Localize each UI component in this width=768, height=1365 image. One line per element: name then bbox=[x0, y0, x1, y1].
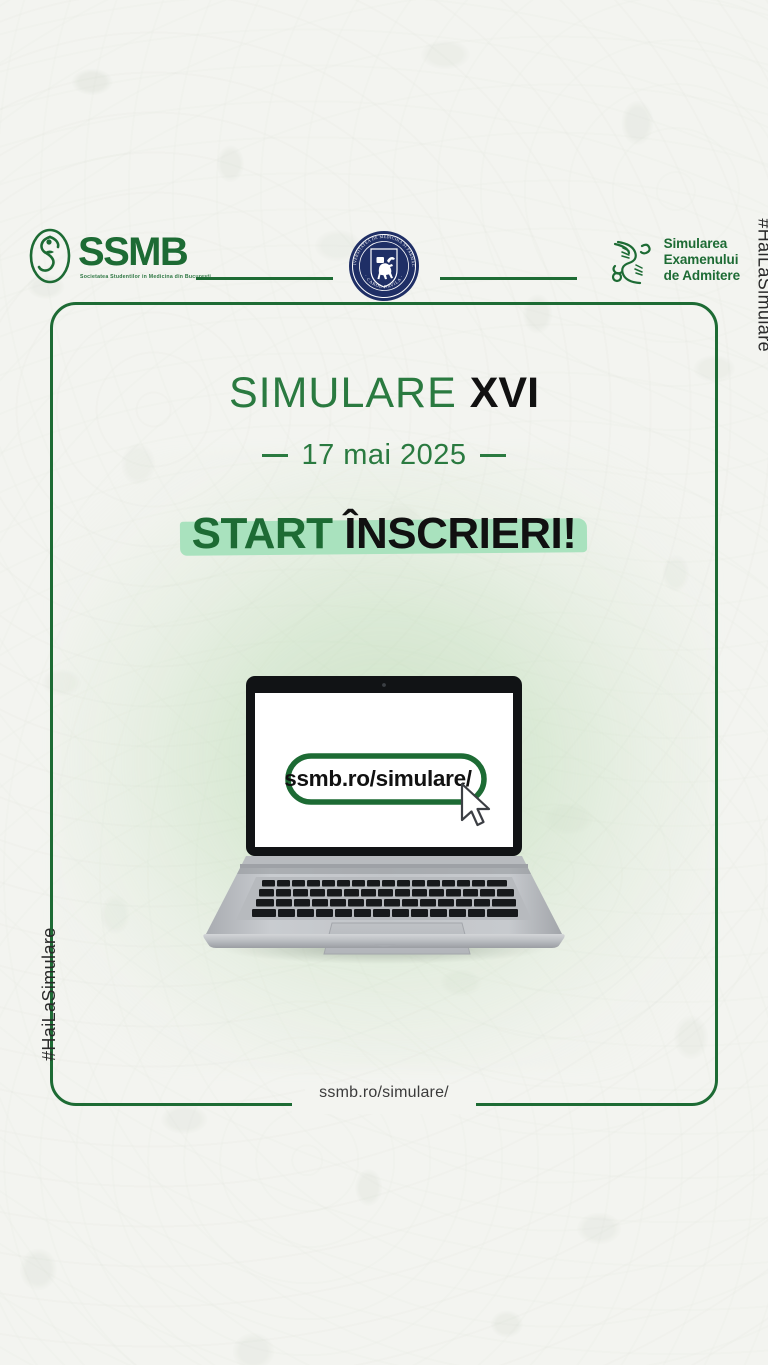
cta-word-start: START bbox=[192, 509, 333, 558]
sea-line-1: Simularea bbox=[664, 236, 728, 251]
ssmb-logo[interactable]: SSMB Societatea Studentilor in Medicina … bbox=[28, 228, 211, 284]
title-simulare: SIMULARE bbox=[229, 369, 457, 417]
ssmb-wordmark: SSMB bbox=[78, 232, 211, 272]
poster-canvas: SSMB Societatea Studentilor in Medicina … bbox=[0, 0, 768, 1365]
laptop-illustration: ssmb.ro/simulare/ bbox=[194, 672, 574, 968]
title-edition: XVI bbox=[470, 369, 539, 417]
stethoscope-dna-icon bbox=[606, 234, 656, 286]
sea-line-2: Examenului bbox=[664, 252, 739, 267]
headline-block: SIMULARE XVI 17 mai 2025 START ÎNSCRIERI… bbox=[0, 372, 768, 556]
dash-right-icon bbox=[480, 454, 506, 457]
event-date-text: 17 mai 2025 bbox=[301, 439, 466, 472]
caduceus-snake-icon bbox=[28, 228, 72, 284]
dash-left-icon bbox=[262, 454, 288, 457]
sea-line-3: de Admitere bbox=[664, 268, 740, 283]
footer-url[interactable]: ssmb.ro/simulare/ bbox=[305, 1084, 463, 1102]
event-date: 17 mai 2025 bbox=[0, 439, 768, 472]
hashtag-left: #HaiLaSimulare bbox=[39, 927, 60, 1061]
laptop-screen-url: ssmb.ro/simulare/ bbox=[284, 766, 473, 791]
cta-headline: START ÎNSCRIERI! bbox=[192, 512, 577, 556]
cta-word-inscrieri: ÎNSCRIERI! bbox=[344, 509, 576, 558]
logo-row: SSMB Societatea Studentilor in Medicina … bbox=[0, 222, 768, 312]
divider-line-left bbox=[196, 277, 333, 280]
simularea-examenului-logo[interactable]: Simularea Examenului de Admitere bbox=[606, 234, 740, 286]
hashtag-right: #HaiLaSimulare bbox=[754, 218, 768, 352]
umf-carol-davila-seal: UNIVERSITATEA DE MEDICINA SI FARMACIE · … bbox=[348, 230, 420, 302]
divider-line-right bbox=[440, 277, 577, 280]
page-title: SIMULARE XVI bbox=[0, 372, 768, 415]
ssmb-tagline: Societatea Studentilor in Medicina din B… bbox=[80, 275, 211, 280]
